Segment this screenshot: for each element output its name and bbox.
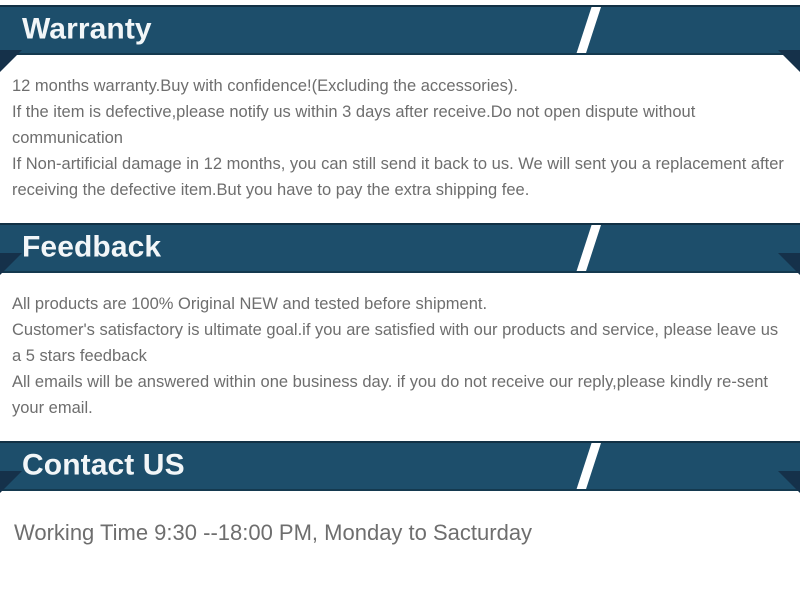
section-contact: Contact US Working Time 9:30 --18:00 PM,… [0,421,800,549]
banner-slash-icon [572,5,602,55]
banner-fold-right-icon [778,253,800,275]
banner-slash-icon [572,223,602,273]
feedback-heading: Feedback [22,232,161,262]
warranty-body: 12 months warranty.Buy with confidence!(… [0,55,800,203]
banner-fold-left-icon [0,50,22,72]
banner-slash-icon [572,441,602,491]
warranty-line-3: If Non-artificial damage in 12 months, y… [12,151,788,203]
warranty-line-1: 12 months warranty.Buy with confidence!(… [12,73,788,99]
feedback-body: All products are 100% Original NEW and t… [0,273,800,421]
banner-fold-right-icon [778,50,800,72]
feedback-banner: Feedback [0,223,800,273]
section-warranty: Warranty 12 months warranty.Buy with con… [0,0,800,203]
feedback-line-1: All products are 100% Original NEW and t… [12,291,788,317]
banner-fold-right-icon [778,471,800,493]
listing-info-page: Warranty 12 months warranty.Buy with con… [0,0,800,594]
section-feedback: Feedback All products are 100% Original … [0,203,800,421]
warranty-banner: Warranty [0,5,800,55]
contact-body: Working Time 9:30 --18:00 PM, Monday to … [0,491,800,549]
warranty-line-2: If the item is defective,please notify u… [12,99,788,151]
banner-fold-left-icon [0,253,22,275]
feedback-line-2: Customer's satisfactory is ultimate goal… [12,317,788,369]
contact-working-time: Working Time 9:30 --18:00 PM, Monday to … [14,517,788,549]
banner-fold-left-icon [0,471,22,493]
contact-banner: Contact US [0,441,800,491]
contact-heading: Contact US [22,450,185,480]
feedback-line-3: All emails will be answered within one b… [12,369,788,421]
warranty-heading: Warranty [22,14,152,44]
